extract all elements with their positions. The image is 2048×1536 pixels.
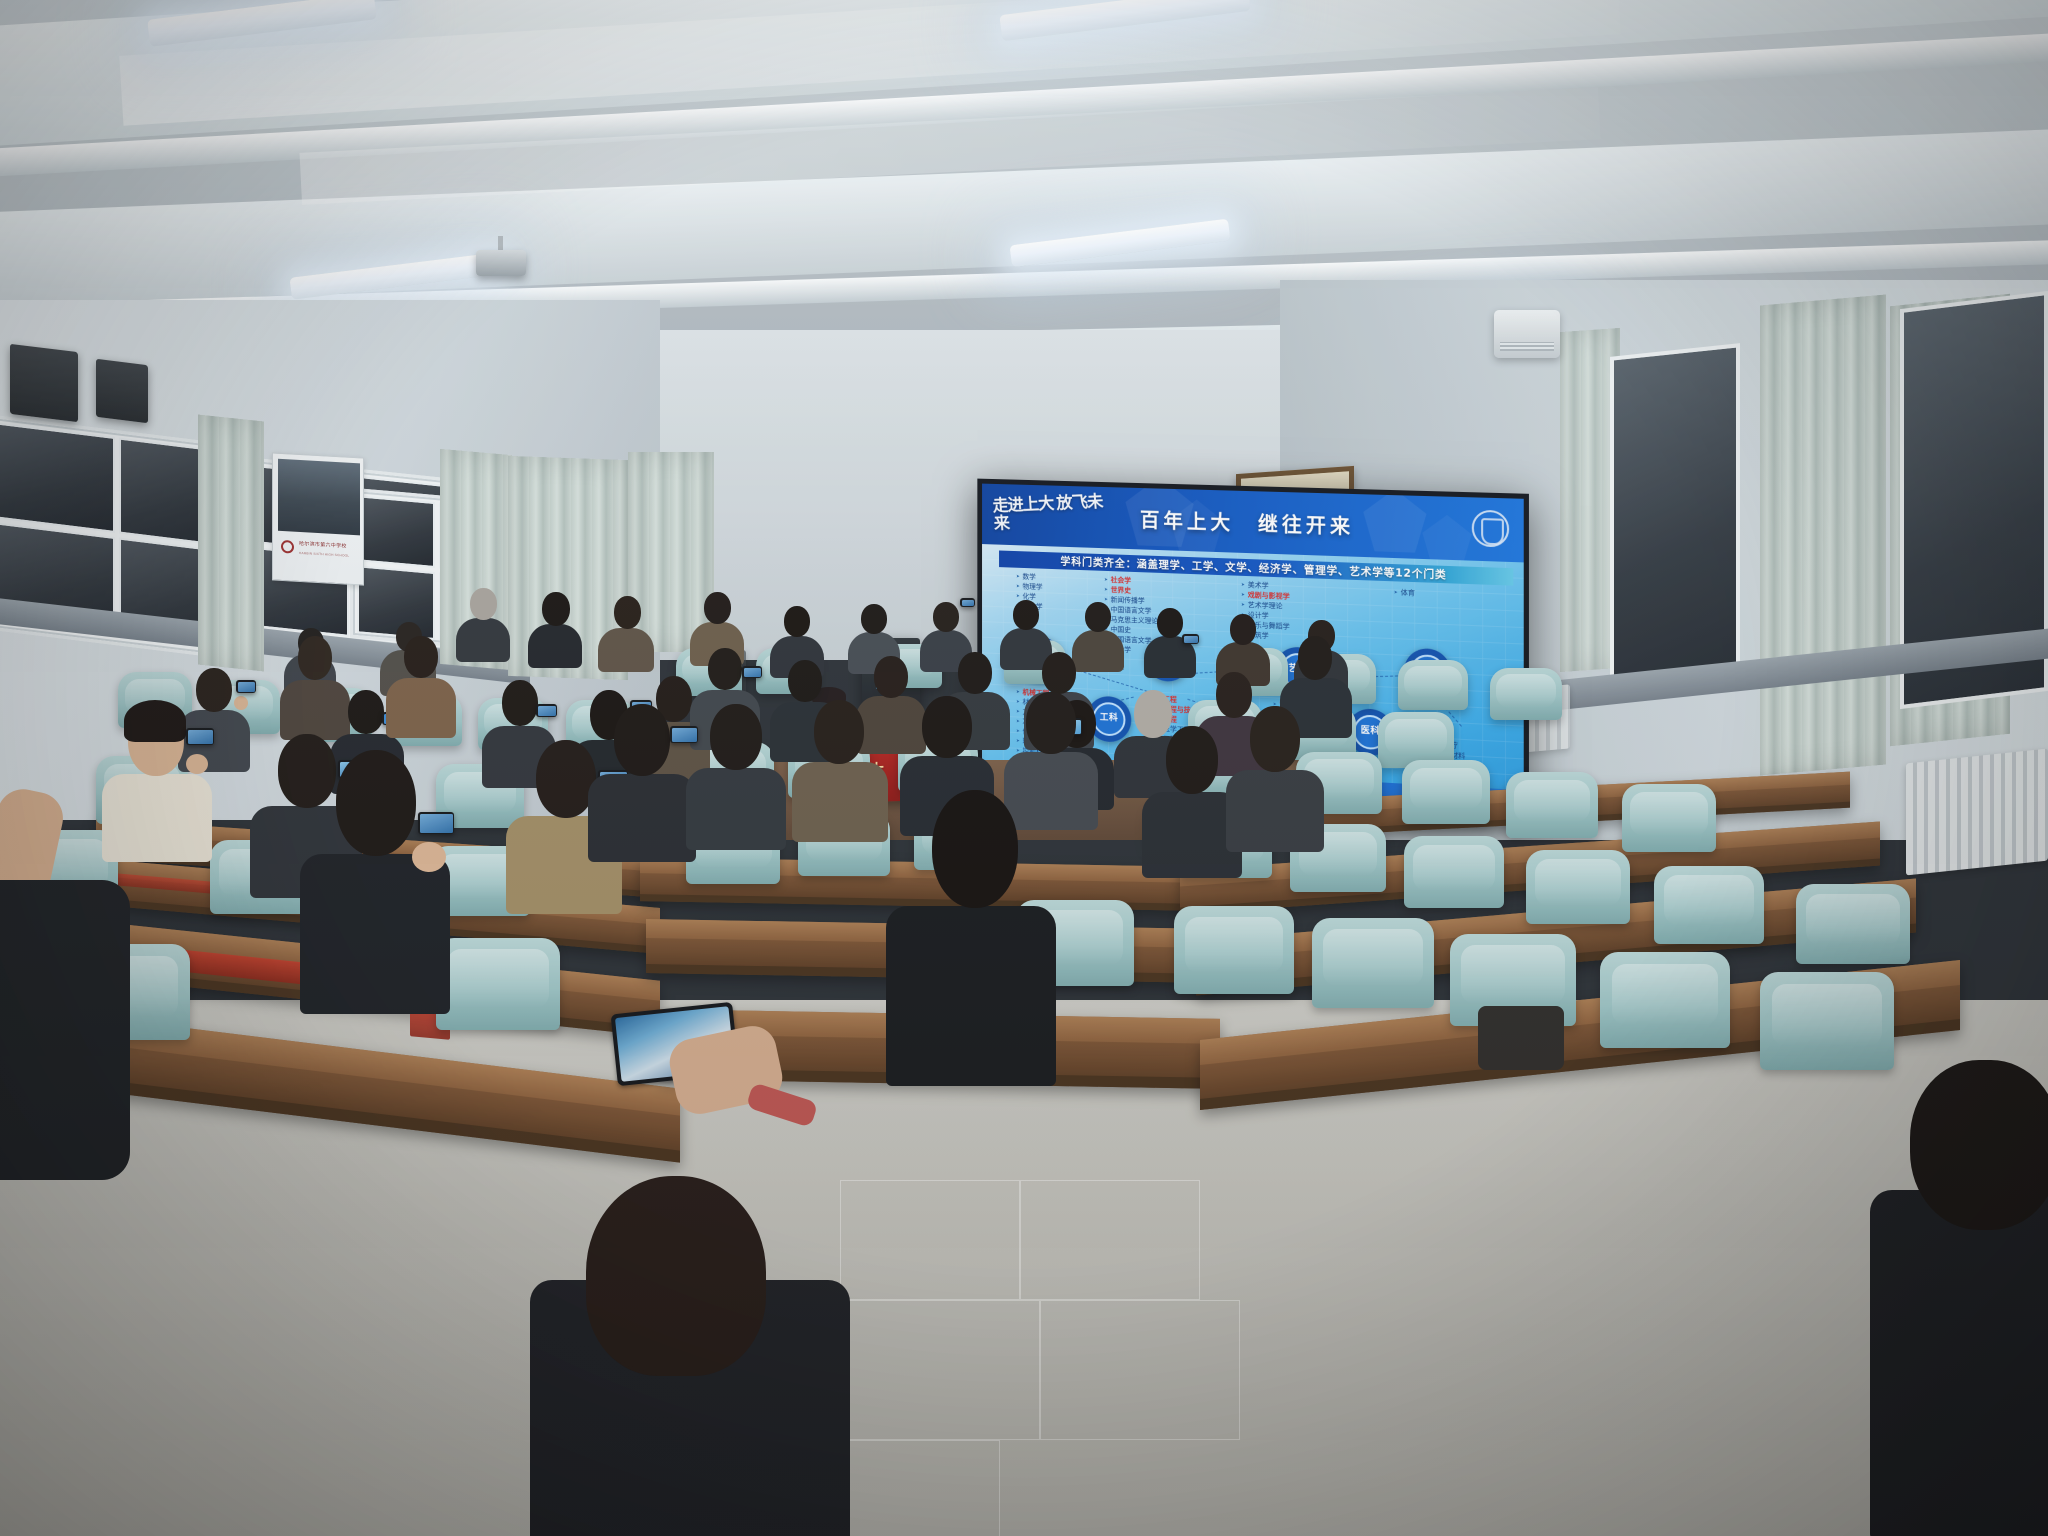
audience-member <box>1144 608 1196 676</box>
audience-member <box>886 790 1056 1080</box>
audience-member-photographing <box>102 706 212 856</box>
radiator <box>1906 749 2048 876</box>
foreground-audience-member <box>500 1080 880 1536</box>
wall-speaker-2 <box>96 359 148 423</box>
poster-school-name: 哈尔滨市第六中学校 <box>299 541 347 551</box>
window-right-1 <box>1610 343 1740 687</box>
curtain-right-a <box>1760 294 1886 775</box>
poster-school-name-en: HARBIN SIXTH HIGH SCHOOL <box>299 551 349 559</box>
ac-vent <box>1500 342 1554 351</box>
foreground-audience-right <box>1870 1060 2048 1536</box>
air-conditioner[interactable] <box>1494 310 1560 358</box>
seat <box>1506 772 1598 838</box>
window-pane <box>357 495 435 568</box>
smartphone[interactable] <box>536 704 557 717</box>
slide-title: 百年上大 继往开来 <box>982 499 1524 545</box>
seat <box>1760 972 1894 1070</box>
audience-member <box>598 596 654 670</box>
smartphone[interactable] <box>236 680 256 693</box>
seat <box>1490 668 1562 720</box>
window-pane <box>0 423 115 533</box>
poster-photo <box>278 459 360 536</box>
seat <box>1622 784 1716 852</box>
audience-member <box>528 592 582 666</box>
lecture-hall-photo: 哈尔滨市第六中学校 HARBIN SIXTH HIGH SCHOOL <box>0 0 2048 1536</box>
subject-list-education: 体育 <box>1394 588 1415 599</box>
seat <box>1402 760 1490 824</box>
smartphone[interactable] <box>186 728 214 745</box>
seat <box>1600 952 1730 1048</box>
seat <box>1404 836 1504 908</box>
ceiling-projector <box>476 250 526 276</box>
audience-member-photographing <box>300 750 450 1010</box>
school-logo-icon <box>281 540 294 554</box>
smartphone[interactable] <box>742 666 762 678</box>
seat <box>1398 660 1468 710</box>
handbag <box>1478 1006 1564 1070</box>
audience-member-photographing <box>588 704 696 856</box>
wall-poster-school: 哈尔滨市第六中学校 HARBIN SIXTH HIGH SCHOOL <box>272 452 364 585</box>
university-emblem-icon <box>1472 510 1509 548</box>
smartphone[interactable] <box>960 598 975 607</box>
foreground-sleeve-left <box>0 880 130 1180</box>
seat <box>1654 866 1764 944</box>
subject-item: 体育 <box>1394 588 1415 599</box>
curtain-left-a <box>198 415 264 672</box>
audience-member <box>1226 706 1324 846</box>
smartphone[interactable] <box>1182 634 1199 644</box>
audience-member <box>456 588 510 660</box>
wall-speaker-1 <box>10 344 78 422</box>
audience-member <box>792 700 888 836</box>
smartphone[interactable] <box>418 812 454 834</box>
audience-member <box>386 636 456 734</box>
seat <box>1796 884 1910 964</box>
seat <box>1312 918 1434 1008</box>
audience-member <box>686 704 786 844</box>
seat <box>1526 850 1630 924</box>
seat <box>1174 906 1294 994</box>
seat <box>436 938 560 1030</box>
